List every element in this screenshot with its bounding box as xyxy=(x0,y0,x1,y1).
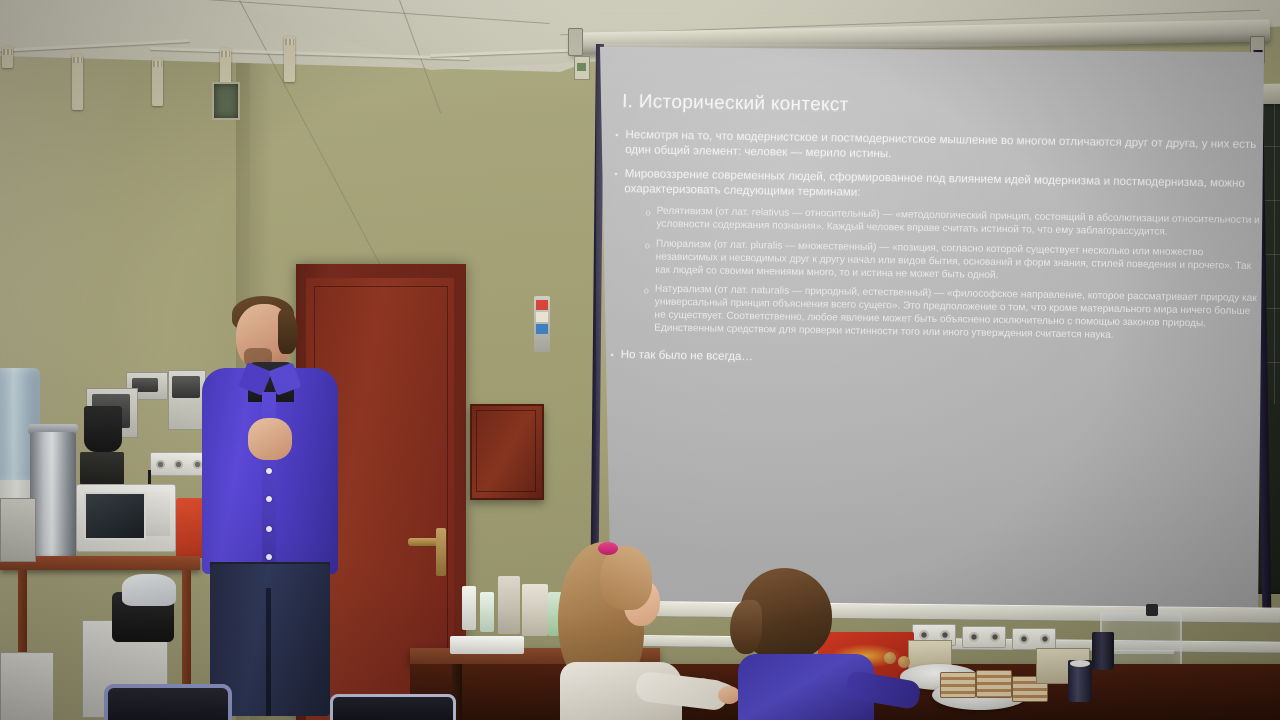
bullet-text: Мировоззрение современных людей, сформир… xyxy=(624,166,1262,206)
shirt-button xyxy=(266,526,272,532)
supply-box xyxy=(498,576,520,634)
presenter-hair-side xyxy=(278,310,298,354)
wire-clip xyxy=(284,36,295,82)
sub-bullet-marker: o xyxy=(644,240,650,277)
cabinet-panel xyxy=(476,410,536,492)
slide-sub-bullet: o Плюрализм (от лат. pluralis — множеств… xyxy=(644,238,1261,286)
girl-left-hair-front xyxy=(600,546,652,610)
projection-screen-assembly: I. Исторический контекст • Несмотря на т… xyxy=(560,0,1280,620)
bullet-marker: • xyxy=(615,130,619,157)
wire-clip xyxy=(2,46,13,68)
microwave-window xyxy=(84,492,146,540)
girl-right xyxy=(728,568,898,720)
bullet-marker: • xyxy=(614,169,618,196)
wall-power-sockets[interactable] xyxy=(1012,628,1056,650)
paper-cup xyxy=(1068,660,1092,702)
girl-right-hair-wisp xyxy=(730,600,762,654)
wall-switch-plate[interactable] xyxy=(574,56,590,80)
storage-box xyxy=(0,652,54,720)
roller-bracket-left xyxy=(568,28,583,56)
cake-slice xyxy=(976,670,1012,698)
sub-bullet-text: Плюрализм (от лат. pluralis — множествен… xyxy=(655,238,1261,286)
shirt-button xyxy=(266,496,272,502)
ceiling-wall-vent xyxy=(212,82,240,120)
microwave-panel[interactable] xyxy=(146,492,170,536)
bullet-text: Несмотря на то, что модернистское и пост… xyxy=(625,127,1263,167)
sub-bullet-text: Релятивизм (от лат. relativus — относите… xyxy=(656,206,1261,241)
presenter xyxy=(196,296,342,720)
video-frame: ж см xyxy=(0,0,1280,720)
table-leg xyxy=(182,570,191,690)
lectern-shelf xyxy=(1104,650,1174,654)
wall-holder xyxy=(534,296,550,352)
pink-hair-tie xyxy=(598,542,618,555)
presenter-hands xyxy=(248,418,292,460)
lectern-clamp xyxy=(1146,604,1158,616)
coffee-maker xyxy=(84,406,122,452)
presenter-leg-seam xyxy=(266,588,271,716)
wipes-pack xyxy=(450,636,524,654)
girl-left xyxy=(540,536,716,720)
spray-bottle xyxy=(462,586,476,630)
spray-bottle xyxy=(480,592,494,632)
slide-bullet: • Мировоззрение современных людей, сформ… xyxy=(614,166,1263,206)
shirt-button xyxy=(266,468,272,474)
slide-sub-bullet: o Релятивизм (от лат. relativus — относи… xyxy=(645,206,1261,241)
stainless-tea-urn xyxy=(30,432,76,560)
slide-sub-bullet: o Натурализм (от лат. naturalis — природ… xyxy=(643,284,1260,345)
paper-cup xyxy=(1092,632,1114,670)
foreground-chair[interactable] xyxy=(330,694,456,720)
slide-bullet: • Несмотря на то, что модернистское и по… xyxy=(615,127,1264,167)
shirt-button xyxy=(266,554,272,560)
paper-sheet xyxy=(0,498,36,562)
wire-clip xyxy=(152,58,163,106)
wall-power-sockets[interactable] xyxy=(962,626,1006,648)
cookie xyxy=(898,656,910,668)
door-escutcheon xyxy=(436,528,446,576)
slide-closing-bullet: • Но так было не всегда… xyxy=(610,346,1258,371)
bullet-marker: • xyxy=(610,349,613,361)
folded-cloth xyxy=(122,574,176,606)
sub-bullet-text: Натурализм (от лат. naturalis — природны… xyxy=(654,284,1260,345)
sub-bullet-marker: o xyxy=(645,208,651,232)
sub-bullet-marker: o xyxy=(643,286,649,335)
wire-clip xyxy=(72,54,83,110)
foreground-chair[interactable] xyxy=(104,684,232,720)
cake-slice xyxy=(940,672,976,698)
slide-content: I. Исторический контекст • Несмотря на т… xyxy=(608,91,1264,491)
bullet-text: Но так было не всегда… xyxy=(621,347,754,364)
